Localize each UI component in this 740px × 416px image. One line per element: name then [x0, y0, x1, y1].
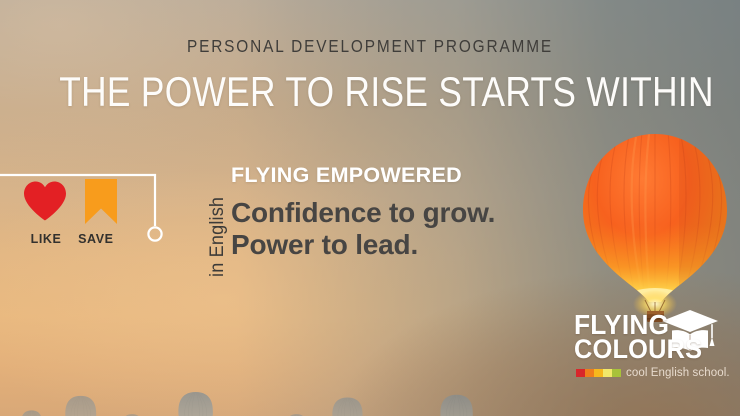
- distant-balloon: [65, 396, 96, 416]
- copy-eyebrow: FLYING EMPOWERED: [231, 162, 561, 188]
- distant-balloon-silhouettes: [0, 296, 560, 416]
- banner-canvas: PERSONAL DEVELOPMENT PROGRAMME THE POWER…: [0, 0, 740, 416]
- logo-color-swatch: [612, 369, 621, 377]
- language-tag-label: in English: [207, 197, 229, 277]
- save-label: SAVE: [74, 232, 138, 246]
- copy-body: Confidence to grow. Power to lead.: [231, 197, 561, 261]
- logo-color-swatch: [603, 369, 612, 377]
- bookmark-icon[interactable]: [84, 178, 118, 225]
- distant-balloon: [178, 392, 212, 416]
- logo-tagline-row: cool English school.: [576, 367, 730, 379]
- like-label: LIKE: [18, 232, 74, 246]
- page-kicker: PERSONAL DEVELOPMENT PROGRAMME: [44, 36, 695, 57]
- heart-icon[interactable]: [22, 180, 68, 222]
- reaction-icons: [18, 178, 138, 230]
- language-tag: in English: [186, 157, 212, 279]
- logo-word-secondary: COLOURS: [574, 337, 724, 362]
- brand-logo[interactable]: FLYING COLOURS cool English school.: [574, 312, 734, 392]
- hot-air-balloon-orange: [575, 128, 735, 323]
- logo-color-swatch: [576, 369, 585, 377]
- logo-color-swatches: [576, 369, 621, 377]
- logo-tagline: cool English school.: [626, 367, 730, 379]
- copy-line-1: Confidence to grow.: [231, 197, 561, 229]
- reaction-group: LIKE SAVE: [18, 178, 138, 258]
- reaction-labels: LIKE SAVE: [18, 232, 138, 246]
- distant-balloon: [21, 410, 42, 416]
- copy-line-2: Power to lead.: [231, 229, 561, 261]
- copy-block: FLYING EMPOWERED Confidence to grow. Pow…: [231, 162, 561, 261]
- distant-balloon: [440, 395, 472, 416]
- logo-color-swatch: [594, 369, 603, 377]
- distant-balloon: [332, 397, 362, 416]
- logo-color-swatch: [585, 369, 594, 377]
- page-title: THE POWER TO RISE STARTS WITHIN: [59, 70, 681, 114]
